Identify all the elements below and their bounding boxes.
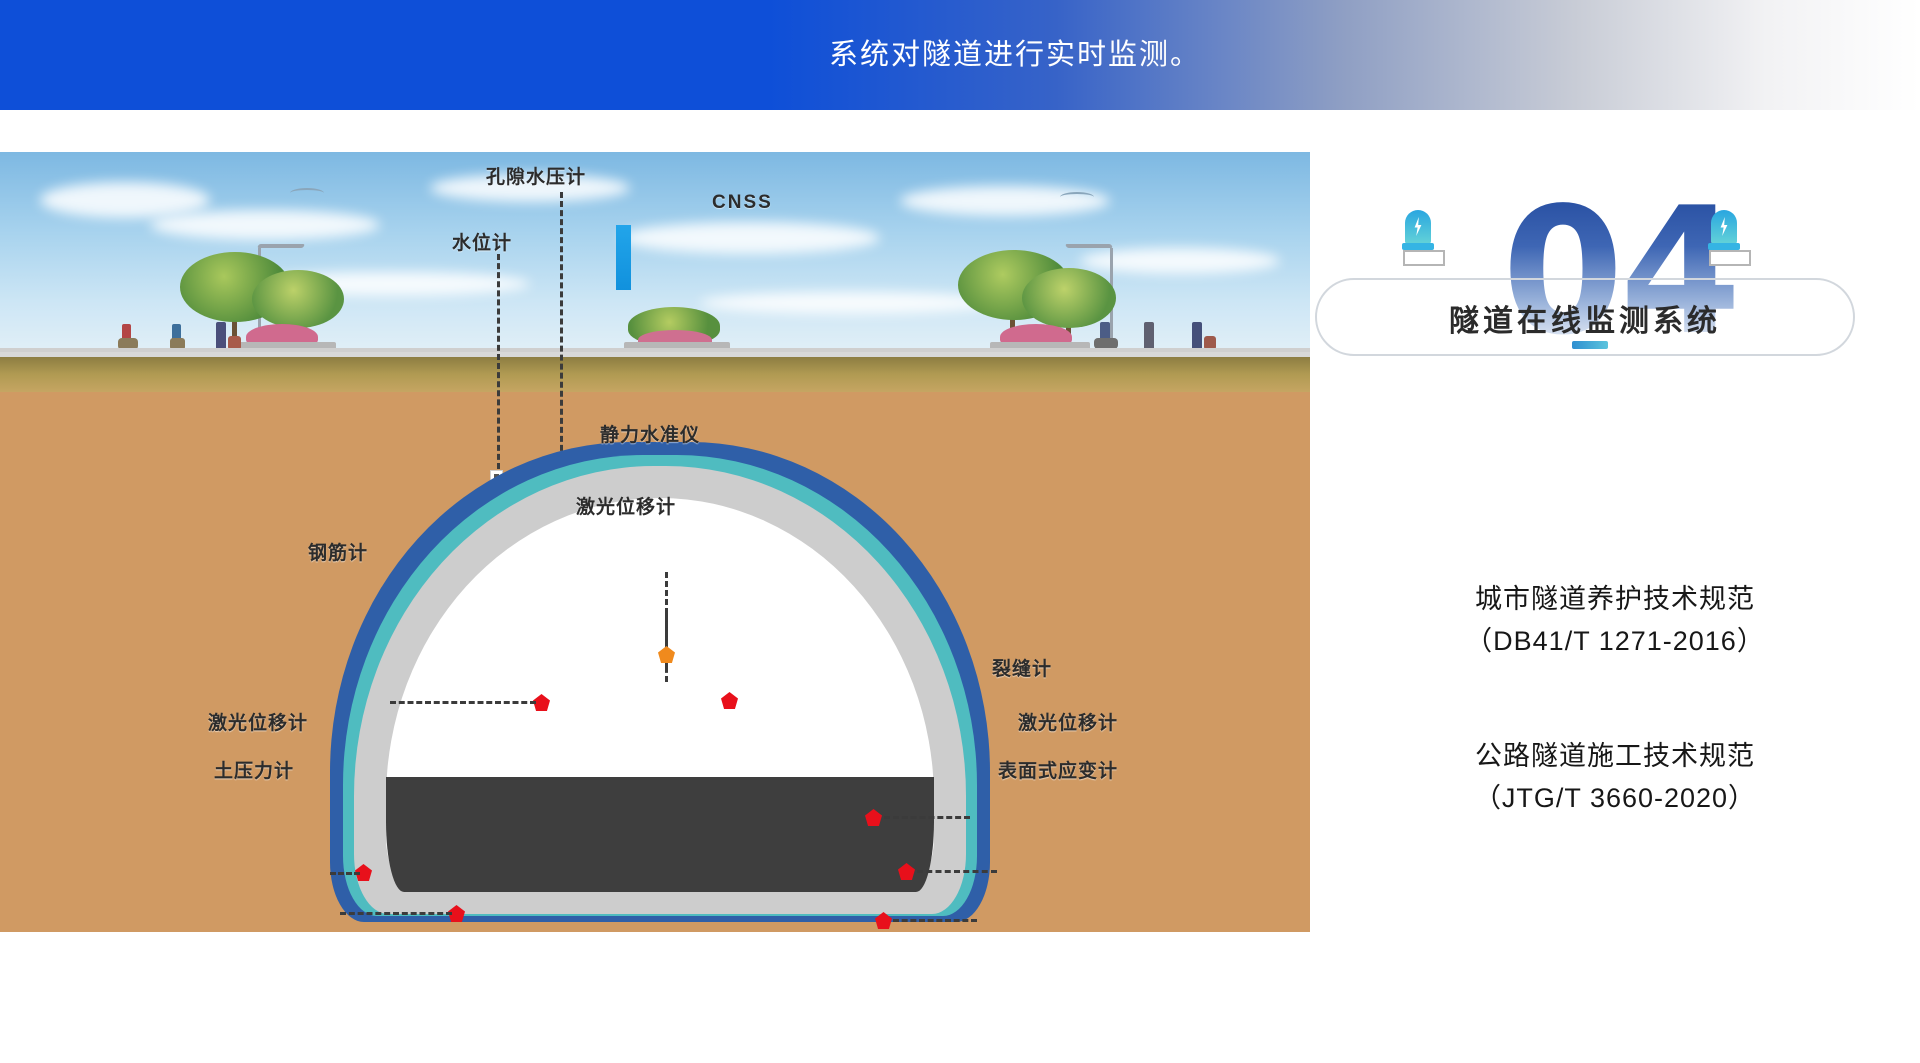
bird-decoration — [290, 188, 324, 198]
label-earth-pressure: 土压力计 — [214, 756, 294, 783]
street-lamp — [1065, 244, 1113, 248]
soil-upper-layer — [0, 357, 1310, 395]
panel-title: 隧道在线监测系统 — [1310, 296, 1860, 340]
right-info-panel: 04 隧道在线监测系统 城市隧道养护技术规范 （DB41/T 1271-2016… — [1310, 110, 1920, 1063]
rebar-leader — [390, 701, 536, 704]
tree-canopy — [252, 270, 344, 328]
beacon-light-icon-right — [1708, 210, 1740, 256]
cloud-decoration — [620, 222, 880, 254]
crack-leader — [884, 816, 970, 819]
label-crack: 裂缝计 — [992, 654, 1052, 681]
label-rebar: 钢筋计 — [308, 538, 368, 565]
label-water-level: 水位计 — [452, 228, 512, 255]
top-banner: 系统对隧道进行实时监测。 — [0, 0, 1920, 110]
cloud-decoration — [40, 182, 210, 218]
earth-pressure-leader — [340, 912, 452, 915]
label-surface-strain: 表面式应变计 — [998, 756, 1118, 783]
pedestrian — [216, 322, 226, 350]
label-pore-water: 孔隙水压计 — [486, 162, 586, 189]
tunnel-monitoring-diagram: 孔隙水压计 水位计 CNSS 静力水准仪 激光位移计 钢筋计 激光位移计 土压力… — [0, 152, 1310, 932]
label-laser-top: 激光位移计 — [576, 492, 676, 519]
cnss-antenna — [616, 225, 631, 290]
beacon-housing — [1709, 250, 1751, 266]
laser-left-leader — [330, 872, 360, 875]
tree-canopy — [1022, 268, 1116, 328]
bird-decoration — [1060, 192, 1094, 202]
spec-2-name: 公路隧道施工技术规范 — [1475, 741, 1755, 771]
cloud-decoration — [150, 210, 380, 240]
pedestrian — [1144, 322, 1154, 350]
pedestrian — [1192, 322, 1202, 350]
spec-item-2: 公路隧道施工技术规范 （JTG/T 3660-2020） — [1310, 735, 1920, 819]
beacon-housing — [1403, 250, 1445, 266]
label-laser-right: 激光位移计 — [1018, 708, 1118, 735]
laser-right-leader — [917, 870, 997, 873]
beacon-base — [1708, 243, 1740, 250]
surface-strain-leader — [893, 919, 977, 922]
beacon-light-icon-left — [1402, 210, 1434, 256]
spec-1-code: （DB41/T 1271-2016） — [1310, 620, 1920, 662]
water-level-borehole-line — [497, 254, 500, 469]
tunnel-roadbed — [386, 777, 934, 892]
label-cnss: CNSS — [712, 192, 773, 214]
spec-1-name: 城市隧道养护技术规范 — [1475, 584, 1755, 614]
banner-title: 系统对隧道进行实时监测。 — [0, 0, 1920, 110]
cloud-decoration — [700, 292, 1000, 314]
beacon-base — [1402, 243, 1434, 250]
street-lamp — [257, 244, 305, 248]
spec-2-code: （JTG/T 3660-2020） — [1310, 777, 1920, 819]
title-underline-accent — [1572, 341, 1608, 349]
spec-item-1: 城市隧道养护技术规范 （DB41/T 1271-2016） — [1310, 578, 1920, 662]
label-laser-left: 激光位移计 — [208, 708, 308, 735]
pore-water-borehole-line — [560, 192, 563, 469]
label-static-level: 静力水准仪 — [600, 420, 700, 447]
